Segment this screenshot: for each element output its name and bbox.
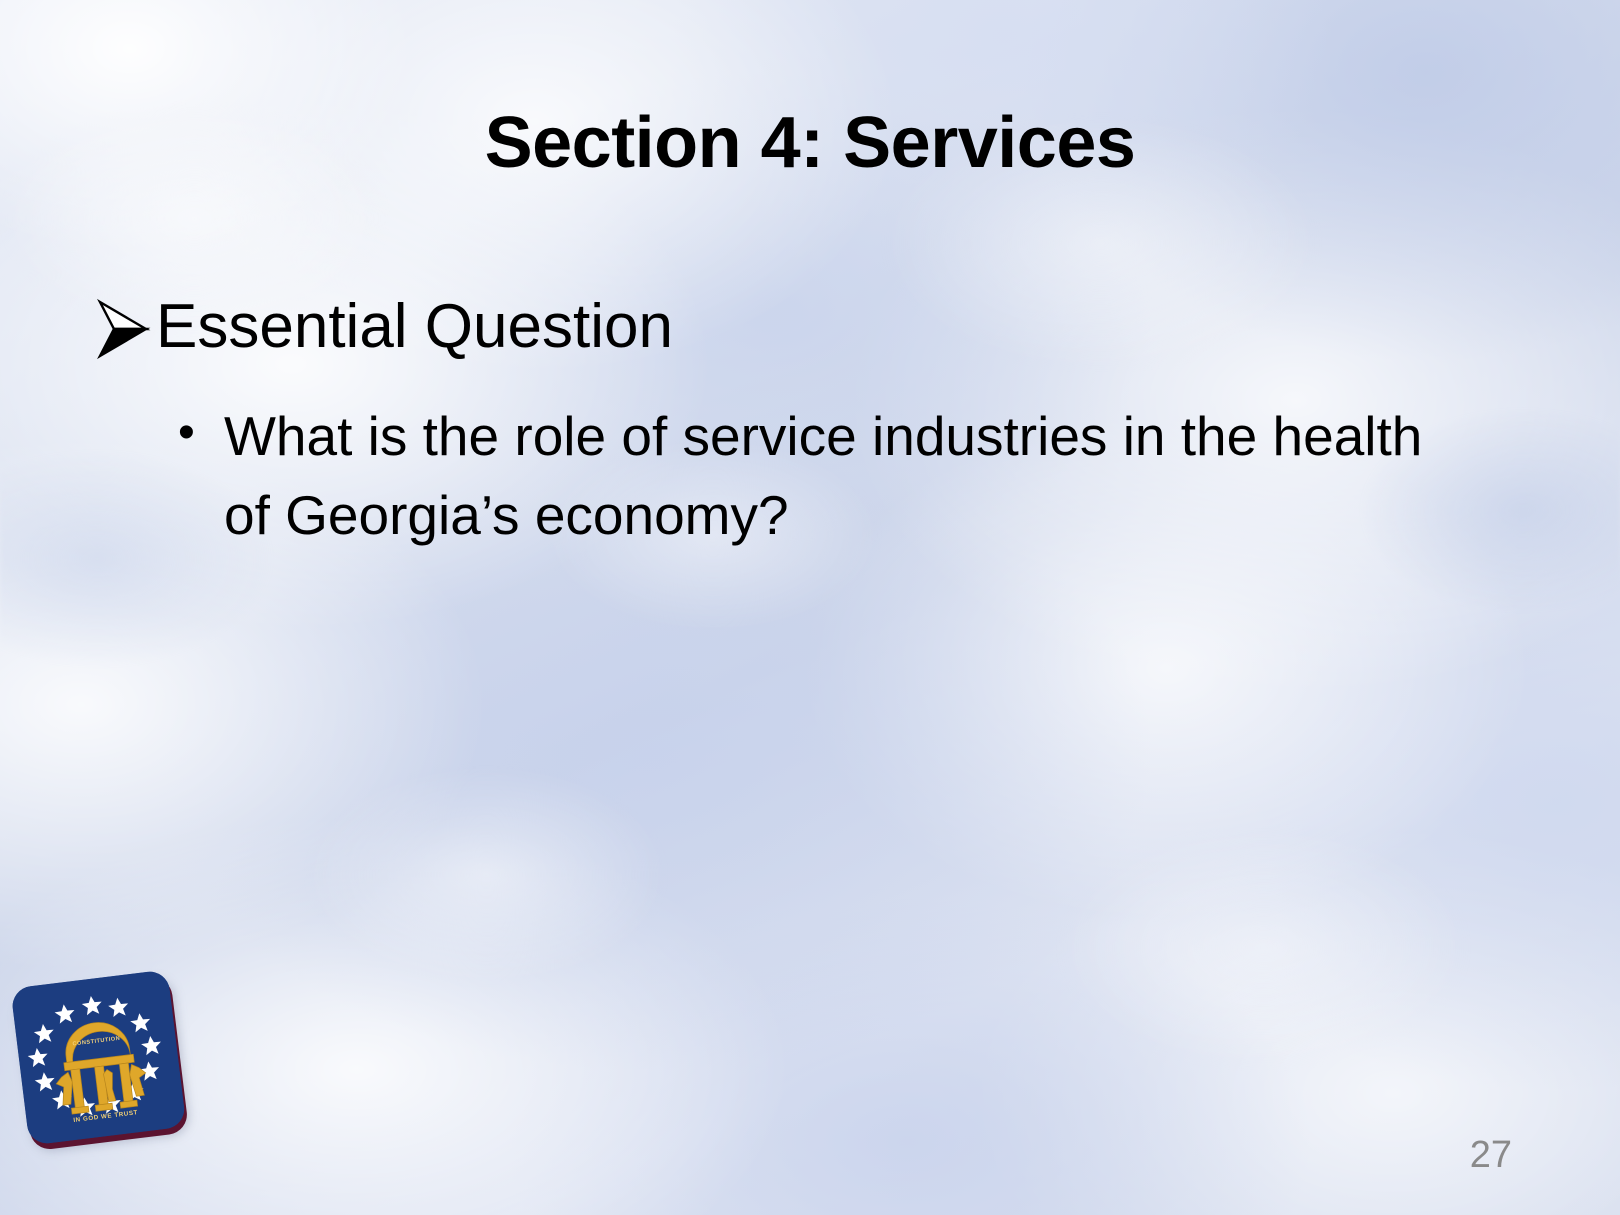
slide-title: Section 4: Services [0, 104, 1620, 183]
arrowhead-bullet-icon [96, 298, 154, 360]
page-number: 27 [1470, 1134, 1512, 1177]
bullet-level2: • What is the role of service industries… [178, 397, 1526, 553]
bullet-level2-label: What is the role of service industries i… [224, 397, 1469, 553]
georgia-flag-emblem: CONSTITUTION IN GOD WE TRUST [10, 969, 195, 1156]
presentation-slide: Section 4: Services Essential Question •… [0, 0, 1620, 1215]
bullet-level1-label: Essential Question [156, 292, 1526, 361]
bullet-level1: Essential Question [96, 292, 1526, 361]
slide-body: Essential Question • What is the role of… [96, 292, 1526, 554]
round-bullet-icon: • [178, 399, 224, 467]
flag-face: CONSTITUTION IN GOD WE TRUST [10, 969, 186, 1145]
